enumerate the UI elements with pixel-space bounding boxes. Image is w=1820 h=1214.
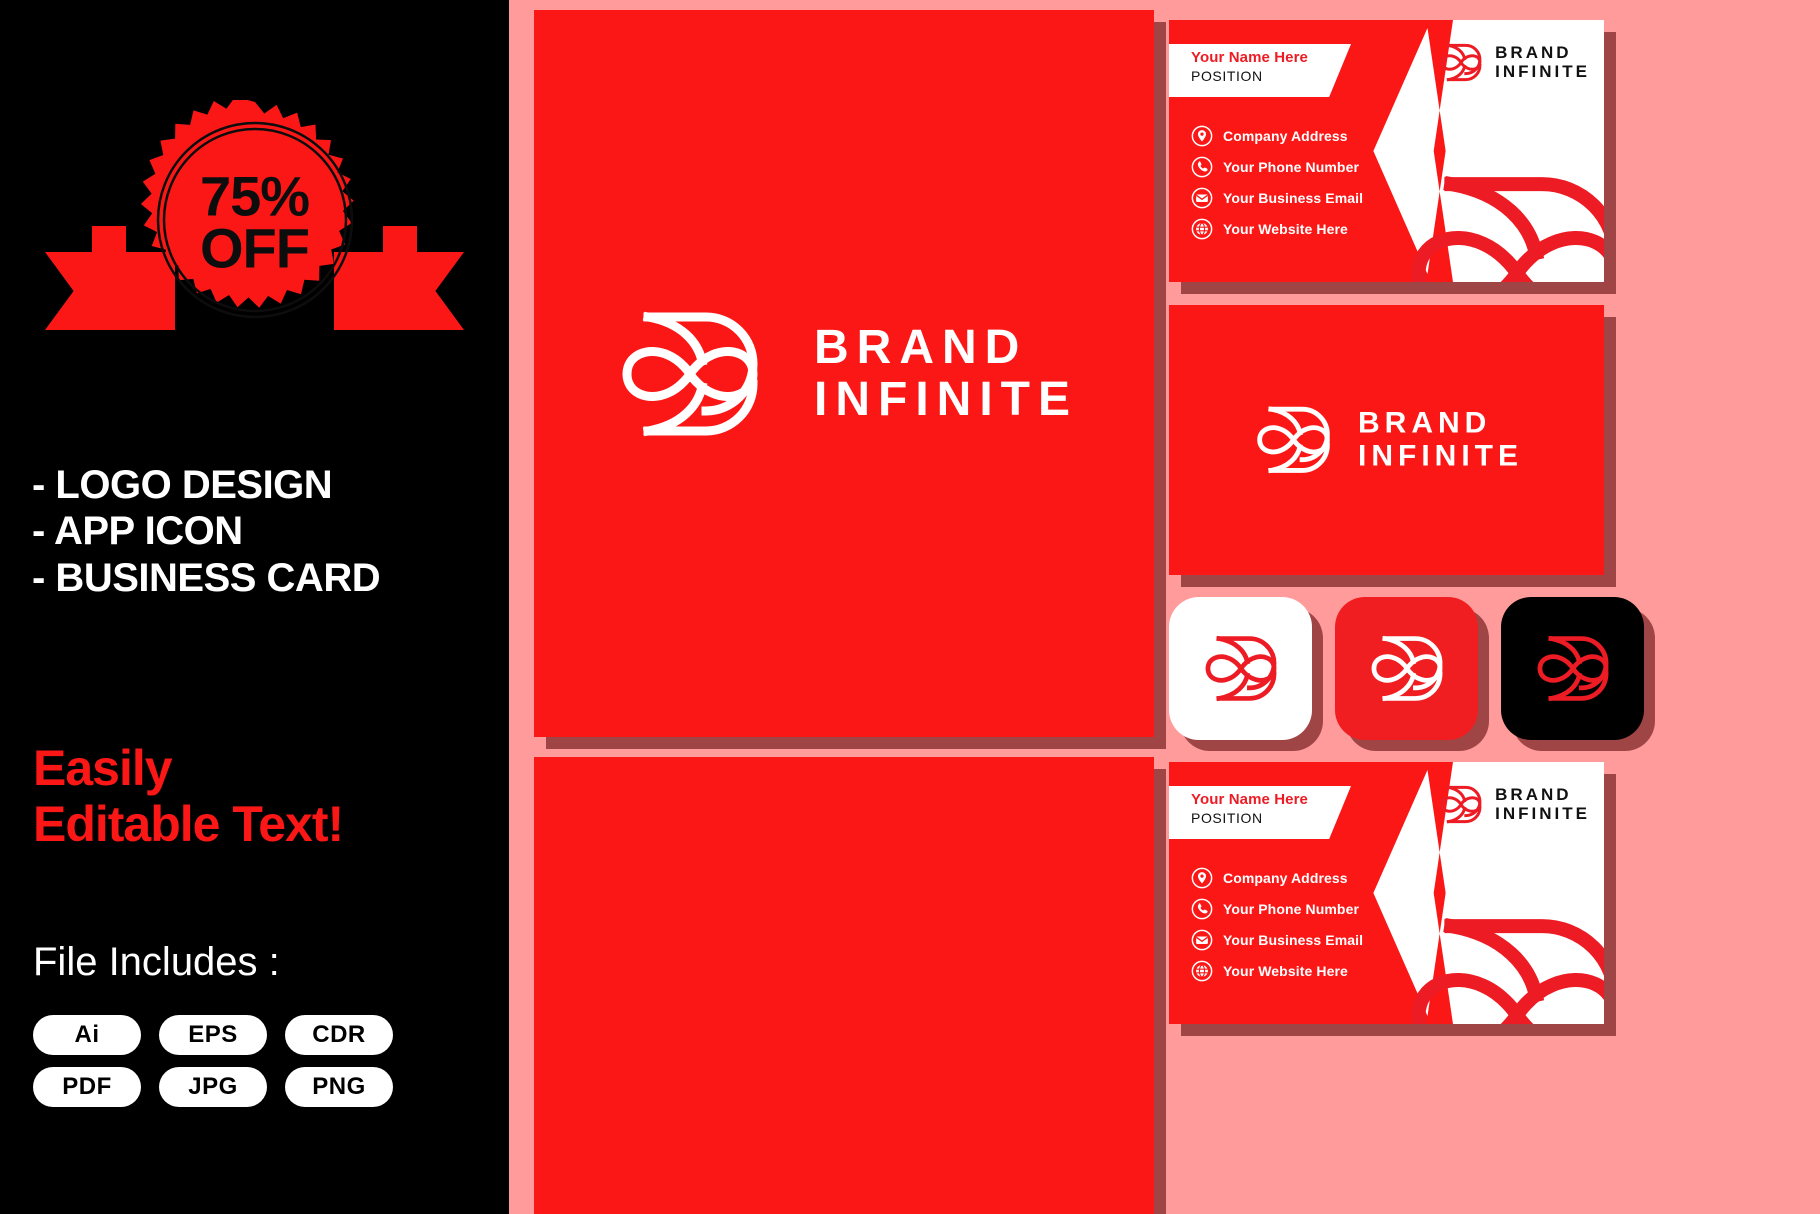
file-format-badge: JPG <box>159 1067 267 1107</box>
tagline: Easily Editable Text! <box>33 740 343 852</box>
card-position: POSITION <box>1191 810 1351 828</box>
hero-logo-card: BRAND INFINITE <box>534 10 1154 737</box>
contact-label: Your Phone Number <box>1223 901 1359 917</box>
card-watermark-mark-icon <box>1392 898 1604 1024</box>
red-card-wordmark-line-2: INFINITE <box>1358 440 1523 472</box>
deliverables-list: - LOGO DESIGN - APP ICON - BUSINESS CARD <box>32 462 492 601</box>
app-icon-black[interactable] <box>1501 597 1644 740</box>
contact-row-phone: Your Phone Number <box>1191 156 1363 178</box>
app-icon-red-wrap <box>1335 597 1478 740</box>
infinity-d-mark-icon <box>1437 40 1485 85</box>
contact-label: Company Address <box>1223 870 1348 886</box>
contact-label: Your Website Here <box>1223 221 1348 237</box>
app-icon-white-wrap <box>1169 597 1312 740</box>
list-item: - LOGO DESIGN <box>32 462 492 508</box>
app-icon-red[interactable] <box>1335 597 1478 740</box>
card-position: POSITION <box>1191 68 1351 86</box>
hero-wordmark-line-1: BRAND <box>814 322 1078 374</box>
starburst-badge-icon <box>130 100 380 350</box>
card-name: Your Name Here <box>1191 49 1351 68</box>
location-pin-icon <box>1191 867 1213 889</box>
contact-label: Your Business Email <box>1223 190 1363 206</box>
card-wordmark: BRAND INFINITE <box>1495 786 1590 823</box>
card-wordmark-line-1: BRAND <box>1495 786 1590 805</box>
mockup-showcase: BRAND INFINITE <box>509 0 1820 1214</box>
business-card-top: BRAND INFINITE Your Name Here POSITION C… <box>1169 20 1604 282</box>
hero-wordmark: BRAND INFINITE <box>814 322 1078 426</box>
tagline-line-1: Easily <box>33 740 343 796</box>
globe-icon <box>1191 960 1213 982</box>
phone-icon <box>1191 156 1213 178</box>
infinity-d-mark-icon <box>1437 782 1485 827</box>
tagline-line-2: Editable Text! <box>33 796 343 852</box>
contact-row-email: Your Business Email <box>1191 929 1363 951</box>
contact-label: Your Website Here <box>1223 963 1348 979</box>
list-item: - APP ICON <box>32 508 492 554</box>
contact-label: Company Address <box>1223 128 1348 144</box>
app-icon-black-wrap <box>1501 597 1644 740</box>
poster-canvas: 75% OFF - LOGO DESIGN - APP ICON - BUSIN… <box>0 0 1820 1214</box>
infinity-d-mark-icon <box>1250 400 1336 481</box>
app-icon-row <box>1169 597 1644 740</box>
discount-badge: 75% OFF <box>0 100 509 360</box>
card-wordmark-line-1: BRAND <box>1495 44 1590 63</box>
red-logo-card: BRAND INFINITE <box>1169 305 1604 575</box>
card-contact-list: Company Address Your Phone Number Your B… <box>1191 125 1363 240</box>
app-icon-white[interactable] <box>1169 597 1312 740</box>
contact-row-website: Your Website Here <box>1191 218 1363 240</box>
infinity-d-mark-icon <box>1365 629 1449 708</box>
contact-label: Your Business Email <box>1223 932 1363 948</box>
envelope-icon <box>1191 929 1213 951</box>
infinity-d-mark-icon <box>1199 629 1283 708</box>
file-format-pills: Ai EPS CDR PDF JPG PNG <box>33 1015 393 1107</box>
infinity-d-mark-icon <box>1531 629 1615 708</box>
contact-row-website: Your Website Here <box>1191 960 1363 982</box>
card-wordmark-line-2: INFINITE <box>1495 805 1590 824</box>
card-name-tag: Your Name Here POSITION <box>1169 44 1351 97</box>
phone-icon <box>1191 898 1213 920</box>
file-includes-label: File Includes : <box>33 940 280 985</box>
file-format-badge: CDR <box>285 1015 393 1055</box>
hero-wordmark-line-2: INFINITE <box>814 374 1078 426</box>
file-format-badge: PNG <box>285 1067 393 1107</box>
card-wordmark-line-2: INFINITE <box>1495 63 1590 82</box>
card-contact-list: Company Address Your Phone Number Your B… <box>1191 867 1363 982</box>
file-format-badge: PDF <box>33 1067 141 1107</box>
business-card-bottom: BRAND INFINITE Your Name Here POSITION C… <box>1169 762 1604 1024</box>
card-name: Your Name Here <box>1191 791 1351 810</box>
file-format-badge: Ai <box>33 1015 141 1055</box>
card-wordmark: BRAND INFINITE <box>1495 44 1590 81</box>
card-logo-lockup: BRAND INFINITE <box>1437 40 1590 85</box>
contact-row-address: Company Address <box>1191 867 1363 889</box>
file-format-badge: EPS <box>159 1015 267 1055</box>
infinity-d-mark-icon <box>610 299 770 449</box>
envelope-icon <box>1191 187 1213 209</box>
globe-icon <box>1191 218 1213 240</box>
card-name-tag: Your Name Here POSITION <box>1169 786 1351 839</box>
list-item: - BUSINESS CARD <box>32 555 492 601</box>
secondary-red-card <box>534 757 1154 1214</box>
contact-row-address: Company Address <box>1191 125 1363 147</box>
contact-row-phone: Your Phone Number <box>1191 898 1363 920</box>
location-pin-icon <box>1191 125 1213 147</box>
red-card-wordmark-line-1: BRAND <box>1358 408 1523 440</box>
contact-label: Your Phone Number <box>1223 159 1359 175</box>
card-logo-lockup: BRAND INFINITE <box>1437 782 1590 827</box>
card-watermark-mark-icon <box>1392 156 1604 282</box>
left-info-panel: 75% OFF - LOGO DESIGN - APP ICON - BUSIN… <box>0 0 509 1214</box>
red-card-wordmark: BRAND INFINITE <box>1358 408 1523 473</box>
contact-row-email: Your Business Email <box>1191 187 1363 209</box>
